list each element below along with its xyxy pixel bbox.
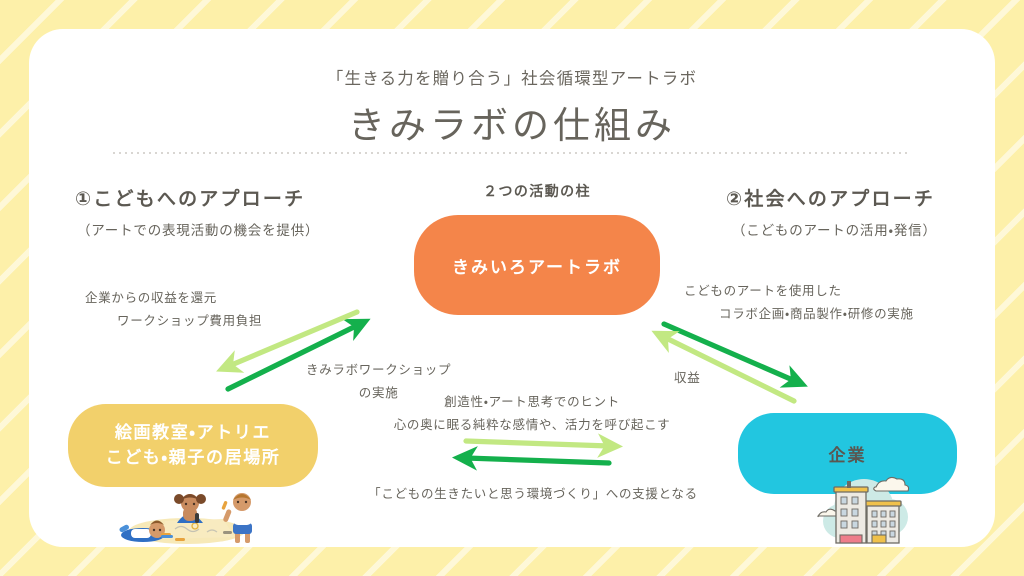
right-heading-text: ②社会へのアプローチ xyxy=(726,184,937,211)
annotation-right-top: こどものアートを使用した コラボ企画・商品製作・研修の実施 xyxy=(684,280,914,325)
arrow-bottom-right-light xyxy=(466,441,609,446)
annotation-right-bottom-line1: 収益 xyxy=(674,367,700,390)
annotation-center-top-line1: 創造性・アート思考でのヒント xyxy=(382,391,682,414)
orange-node-label: きみいろアートラボ xyxy=(452,253,622,278)
annotation-right-top-line2: コラボ企画・商品製作・研修の実施 xyxy=(684,303,914,326)
annotation-center-bottom: 「こどもの生きたいと思う環境づくり」への支援となる xyxy=(368,483,698,506)
pillar-label: ２つの活動の柱 xyxy=(412,181,662,201)
header-divider xyxy=(111,152,911,154)
annotation-left-top: 企業からの収益を還元 ワークショップ費用負担 xyxy=(85,287,262,332)
annotation-right-bottom: 収益 xyxy=(674,367,700,390)
cyan-node-label: 企業 xyxy=(829,441,867,466)
arrow-bottom-left-dark xyxy=(466,458,609,463)
annotation-center-bottom-line1: 「こどもの生きたいと思う環境づくり」への支援となる xyxy=(368,483,698,506)
office-buildings-illustration xyxy=(804,469,924,547)
slide-subtitle: 「生きる力を贈り合う」社会循環型アートラボ xyxy=(29,65,995,89)
annotation-center-top-line2: 心の奥に眠る純粋な感情や、活力を呼び起こす xyxy=(382,414,682,437)
left-subheading-text: （アートでの表現活動の機会を提供） xyxy=(77,219,319,239)
annotation-left-top-line1: 企業からの収益を還元 xyxy=(85,287,262,310)
children-drawing-illustration xyxy=(95,469,275,547)
slide-canvas: 「生きる力を贈り合う」社会循環型アートラボ きみラボの仕組み ①こどもへのアプロ… xyxy=(0,0,1024,576)
slide-title: きみラボの仕組み xyxy=(29,95,995,149)
content-card: 「生きる力を贈り合う」社会循環型アートラボ きみラボの仕組み ①こどもへのアプロ… xyxy=(29,29,995,547)
orange-node-kimiiro-artlab: きみいろアートラボ xyxy=(414,215,660,315)
left-heading-text: ①こどもへのアプローチ xyxy=(75,184,319,211)
left-column-heading: ①こどもへのアプローチ （アートでの表現活動の機会を提供） xyxy=(75,184,319,239)
annotation-center-top: 創造性・アート思考でのヒント 心の奥に眠る純粋な感情や、活力を呼び起こす xyxy=(382,391,682,436)
annotation-left-bottom-line1: きみラボワークショップ xyxy=(306,359,451,382)
gold-node-label-line1: 絵画教室・アトリエ xyxy=(115,421,271,446)
annotation-right-top-line1: こどものアートを使用した xyxy=(684,280,914,303)
right-subheading-text: （こどものアートの活用・発信） xyxy=(732,219,937,239)
gold-node-label-line2: こども・親子の居場所 xyxy=(106,446,281,471)
right-column-heading: ②社会へのアプローチ （こどものアートの活用・発信） xyxy=(726,184,937,239)
annotation-left-top-line2: ワークショップ費用負担 xyxy=(85,310,262,333)
